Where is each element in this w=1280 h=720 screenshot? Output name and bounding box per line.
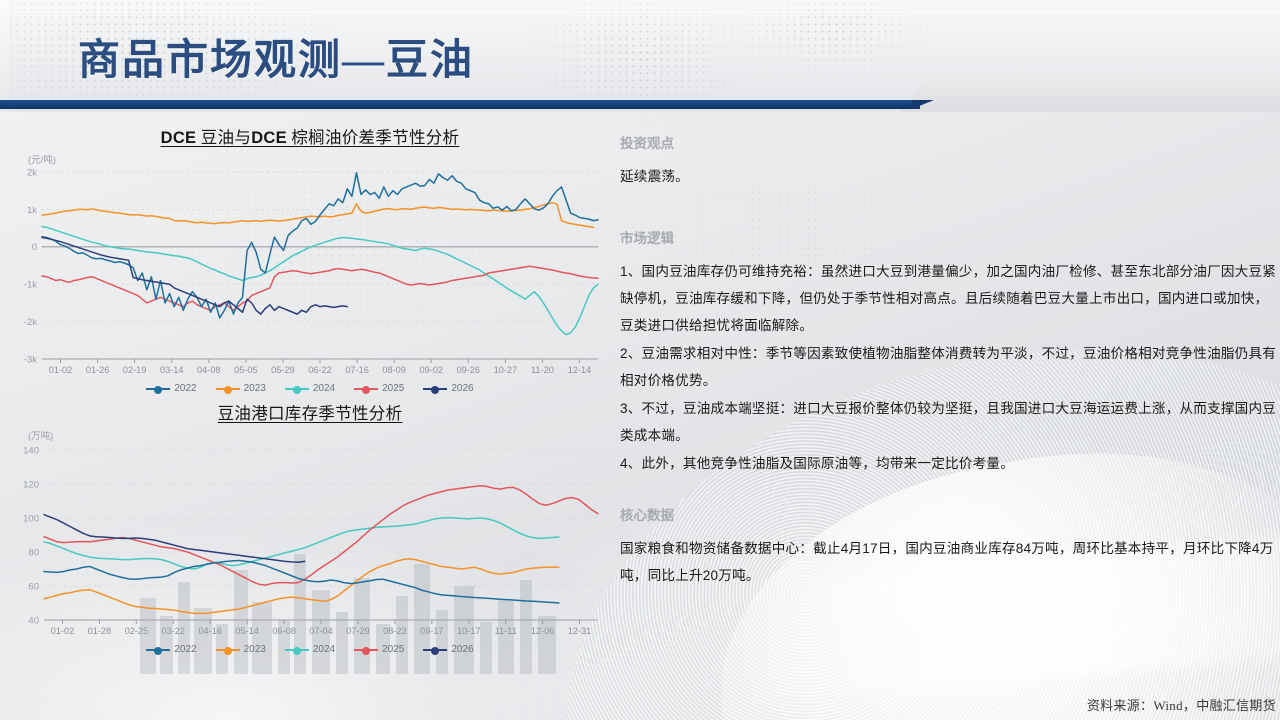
section-heading-market-logic: 市场逻辑: [620, 227, 1280, 247]
header-fold-shape: [900, 80, 1280, 112]
chart1-legend-item-2024[interactable]: 2024: [285, 383, 335, 394]
chart2-legend-item-2022[interactable]: 2022: [146, 644, 196, 655]
chart2-plot-area: 14012010080604001-0201-2802-2503-2204-16…: [14, 442, 606, 642]
header-accent-bar-tip: [912, 100, 934, 109]
chart1-svg: 2k1k0-1k-2k-3k01-0201-2602-1903-1404-080…: [14, 166, 606, 381]
svg-text:03-22: 03-22: [162, 626, 186, 636]
legend-swatch-2023: [216, 645, 240, 654]
legend-label-2025: 2025: [382, 644, 404, 655]
svg-text:08-23: 08-23: [383, 626, 407, 636]
chart1-title-part1: DCE: [161, 129, 197, 147]
section-market-logic: 市场逻辑 1、国内豆油库存仍可维持充裕：虽然进口大豆到港量偏少，加之国内油厂检修…: [620, 227, 1280, 477]
spacer-1: [620, 191, 1280, 227]
legend-label-2023: 2023: [244, 644, 266, 655]
svg-text:01-02: 01-02: [49, 365, 73, 375]
market-logic-point-4: 4、此外，其他竞争性油脂及国际原油等，均带来一定比价考量。: [620, 450, 1280, 477]
chart1-legend: 20222023202420252026: [14, 383, 606, 394]
svg-text:-2k: -2k: [24, 317, 37, 328]
svg-text:06-22: 06-22: [308, 365, 332, 375]
chart1-legend-item-2022[interactable]: 2022: [146, 383, 196, 394]
svg-text:40: 40: [28, 615, 39, 626]
svg-text:60: 60: [28, 581, 39, 592]
header-top-rule: [0, 11, 1280, 12]
svg-text:05-29: 05-29: [271, 365, 295, 375]
svg-text:01-28: 01-28: [88, 626, 112, 636]
chart2-legend-item-2023[interactable]: 2023: [216, 644, 266, 655]
legend-label-2024: 2024: [313, 383, 335, 394]
header-accent-bar: [0, 100, 920, 109]
chart2-y-unit: (万吨): [28, 428, 606, 442]
chart2-title: 豆油港口库存季节性分析: [14, 400, 606, 424]
chart1-legend-item-2023[interactable]: 2023: [216, 383, 266, 394]
svg-text:07-29: 07-29: [346, 626, 370, 636]
core-data-text: 国家粮食和物资储备数据中心：截止4月17日，国内豆油商业库存84万吨，周环比基本…: [620, 535, 1280, 589]
chart-price-spread-seasonality: DCE 豆油与DCE 棕榈油价差季节性分析 (元/吨) 2k1k0-1k-2k-…: [14, 124, 606, 394]
svg-text:12-14: 12-14: [568, 365, 592, 375]
legend-label-2024: 2024: [313, 644, 335, 655]
svg-text:-3k: -3k: [24, 354, 37, 365]
svg-text:01-26: 01-26: [86, 365, 110, 375]
svg-text:-1k: -1k: [24, 280, 37, 291]
svg-text:07-04: 07-04: [309, 626, 333, 636]
page-title: 商品市场观测—豆油: [78, 26, 474, 87]
section-heading-core-data: 核心数据: [620, 504, 1280, 524]
slide-canvas: 商品市场观测—豆油 DCE 豆油与DCE 棕榈油价差季节性分析 (元/吨) 2k…: [0, 0, 1280, 720]
svg-text:10-17: 10-17: [457, 626, 481, 636]
legend-label-2022: 2022: [174, 644, 196, 655]
legend-swatch-2024: [285, 645, 309, 654]
svg-text:1k: 1k: [27, 205, 37, 216]
chart2-legend-item-2024[interactable]: 2024: [285, 644, 335, 655]
svg-text:2k: 2k: [27, 167, 37, 178]
market-logic-point-2: 2、豆油需求相对中性：季节等因素致使植物油脂整体消费转为平淡，不过，豆油价格相对…: [620, 340, 1280, 394]
source-note-wrap: 资料来源：Wind，中融汇信期货: [620, 694, 1280, 716]
legend-swatch-2024: [285, 384, 309, 393]
svg-text:11-11: 11-11: [495, 626, 517, 636]
svg-text:11-20: 11-20: [531, 365, 554, 375]
legend-label-2022: 2022: [174, 383, 196, 394]
chart1-legend-item-2026[interactable]: 2026: [423, 383, 473, 394]
legend-label-2026: 2026: [451, 644, 473, 655]
chart2-legend-item-2025[interactable]: 2025: [354, 644, 404, 655]
chart-port-inventory-seasonality: 豆油港口库存季节性分析 (万吨) 14012010080604001-0201-…: [14, 400, 606, 655]
svg-text:09-26: 09-26: [457, 365, 481, 375]
commentary-panel: 投资观点 延续震荡。 市场逻辑 1、国内豆油库存仍可维持充裕：虽然进口大豆到港量…: [620, 132, 1280, 590]
svg-text:09-02: 09-02: [419, 365, 443, 375]
section-core-data: 核心数据 国家粮食和物资储备数据中心：截止4月17日，国内豆油商业库存84万吨，…: [620, 504, 1280, 589]
section-heading-investment-view: 投资观点: [620, 132, 1280, 152]
chart1-title-part3: DCE: [251, 129, 287, 147]
chart1-legend-item-2025[interactable]: 2025: [354, 383, 404, 394]
legend-swatch-2022: [146, 384, 170, 393]
chart2-svg: 14012010080604001-0201-2802-2503-2204-16…: [14, 442, 606, 642]
legend-label-2026: 2026: [451, 383, 473, 394]
chart1-plot-area: 2k1k0-1k-2k-3k01-0201-2602-1903-1404-080…: [14, 166, 606, 381]
chart2-legend-item-2026[interactable]: 2026: [423, 644, 473, 655]
svg-text:0: 0: [32, 242, 37, 253]
svg-text:05-05: 05-05: [234, 365, 258, 375]
market-logic-point-3: 3、不过，豆油成本端坚挺：进口大豆报价整体仍较为坚挺，且我国进口大豆海运运费上涨…: [620, 395, 1280, 449]
svg-text:10-27: 10-27: [494, 365, 518, 375]
charts-column: DCE 豆油与DCE 棕榈油价差季节性分析 (元/吨) 2k1k0-1k-2k-…: [14, 124, 606, 708]
legend-swatch-2025: [354, 645, 378, 654]
svg-text:01-02: 01-02: [51, 626, 75, 636]
investment-view-text: 延续震荡。: [620, 163, 1280, 190]
svg-text:05-14: 05-14: [235, 626, 259, 636]
section-investment-view: 投资观点 延续震荡。: [620, 132, 1280, 190]
chart1-title-part2: 豆油与: [196, 128, 251, 147]
svg-text:140: 140: [23, 445, 39, 456]
legend-swatch-2022: [146, 645, 170, 654]
svg-text:02-25: 02-25: [125, 626, 149, 636]
market-logic-point-1: 1、国内豆油库存仍可维持充裕：虽然进口大豆到港量偏少，加之国内油厂检修、甚至东北…: [620, 258, 1280, 339]
legend-swatch-2026: [423, 645, 447, 654]
legend-label-2023: 2023: [244, 383, 266, 394]
legend-swatch-2023: [216, 384, 240, 393]
svg-text:09-17: 09-17: [420, 626, 444, 636]
chart1-title: DCE 豆油与DCE 棕榈油价差季节性分析: [14, 124, 606, 148]
svg-text:04-16: 04-16: [198, 626, 222, 636]
legend-swatch-2025: [354, 384, 378, 393]
svg-text:06-08: 06-08: [272, 626, 296, 636]
source-note: 资料来源：Wind，中融汇信期货: [1087, 695, 1276, 714]
svg-text:03-14: 03-14: [160, 365, 184, 375]
legend-swatch-2026: [423, 384, 447, 393]
chart2-legend: 20222023202420252026: [14, 644, 606, 655]
svg-text:120: 120: [23, 479, 39, 490]
svg-text:12-31: 12-31: [568, 626, 592, 636]
legend-label-2025: 2025: [382, 383, 404, 394]
slide-header: 商品市场观测—豆油: [0, 0, 1280, 112]
spacer-2: [620, 478, 1280, 504]
svg-text:12-06: 12-06: [531, 626, 555, 636]
svg-text:07-16: 07-16: [345, 365, 369, 375]
chart1-y-unit: (元/吨): [28, 152, 606, 166]
svg-text:100: 100: [23, 513, 39, 524]
chart1-title-part4: 棕榈油价差季节性分析: [287, 128, 459, 147]
svg-text:80: 80: [28, 547, 39, 558]
svg-text:04-08: 04-08: [197, 365, 221, 375]
svg-text:08-09: 08-09: [382, 365, 406, 375]
header-left-rail: [0, 0, 10, 112]
svg-text:02-19: 02-19: [123, 365, 147, 375]
